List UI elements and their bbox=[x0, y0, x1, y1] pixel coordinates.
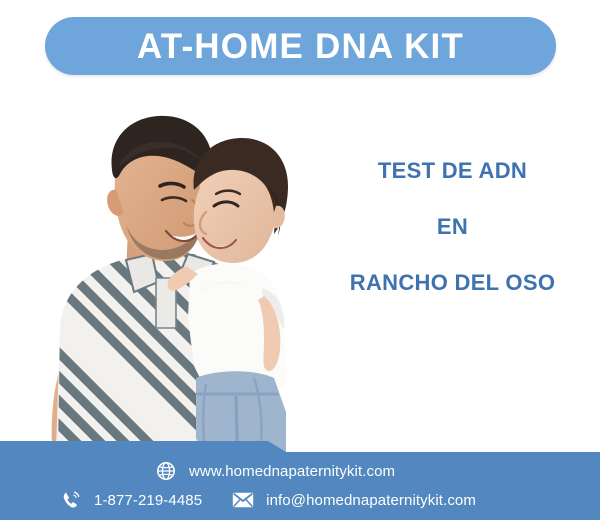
footer-website-item[interactable]: www.homednapaternitykit.com bbox=[155, 460, 395, 482]
footer-email-label: info@homednapaternitykit.com bbox=[266, 493, 476, 508]
globe-icon bbox=[155, 460, 177, 482]
footer-contact-row: 1-877-219-4485 info@homednapaternitykit.… bbox=[60, 489, 476, 511]
footer-phone-label: 1-877-219-4485 bbox=[94, 493, 202, 508]
footer-phone-item[interactable]: 1-877-219-4485 bbox=[60, 489, 202, 511]
header-banner: AT-HOME DNA KIT bbox=[45, 17, 556, 75]
footer-contact-bar: www.homednapaternitykit.com 1-877-219-44… bbox=[0, 440, 600, 520]
phone-icon bbox=[60, 489, 82, 511]
promo-banner-page: AT-HOME DNA KIT bbox=[0, 0, 600, 520]
headline-line-1: TEST DE ADN bbox=[315, 160, 590, 182]
footer-email-item[interactable]: info@homednapaternitykit.com bbox=[232, 489, 476, 511]
page-title: AT-HOME DNA KIT bbox=[137, 29, 464, 64]
envelope-icon bbox=[232, 489, 254, 511]
footer-website-label: www.homednapaternitykit.com bbox=[189, 464, 395, 479]
headline-line-2: EN bbox=[315, 216, 590, 238]
headline-line-3: RANCHO DEL OSO bbox=[315, 272, 590, 294]
headline-block: TEST DE ADN EN RANCHO DEL OSO bbox=[315, 160, 590, 294]
footer-website-row: www.homednapaternitykit.com bbox=[155, 460, 395, 482]
